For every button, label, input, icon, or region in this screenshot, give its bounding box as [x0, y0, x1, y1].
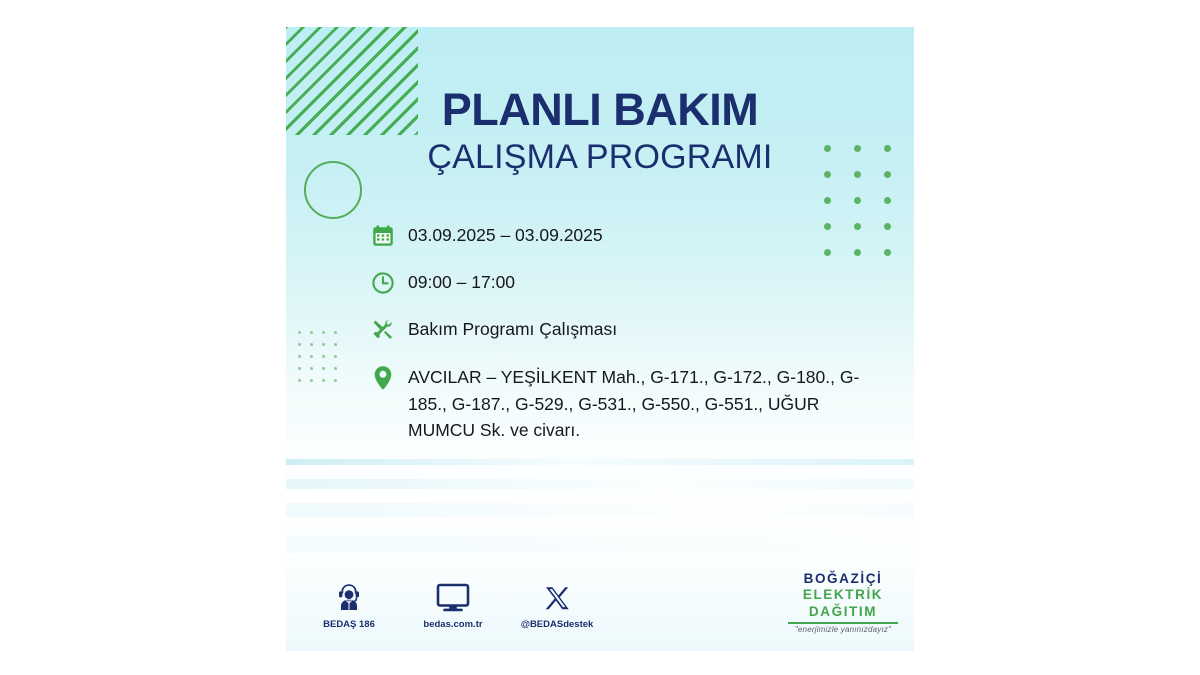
brand-line-elektrik: ELEKTRİK: [784, 587, 902, 603]
clock-icon: [368, 271, 398, 299]
page-title: PLANLI BAKIM: [286, 87, 914, 134]
dot: [884, 197, 891, 204]
dot: [824, 197, 831, 204]
brand-line-bogazici: BOĞAZİÇİ: [784, 571, 902, 587]
dot: [298, 367, 301, 370]
background-wave-band: [286, 479, 914, 489]
poster-heading: PLANLI BAKIM ÇALIŞMA PROGRAMI: [286, 87, 914, 177]
detail-location-text: AVCILAR – YEŞİLKENT Mah., G-171., G-172.…: [398, 364, 888, 444]
dot: [322, 331, 325, 334]
page-subtitle: ÇALIŞMA PROGRAMI: [286, 138, 914, 177]
contact-phone[interactable]: BEDAŞ 186: [312, 579, 386, 630]
location-pin-icon: [368, 365, 398, 393]
brand-divider: [788, 622, 898, 624]
detail-row-date: 03.09.2025 – 03.09.2025: [368, 223, 888, 252]
detail-row-time: 09:00 – 17:00: [368, 270, 888, 299]
dot: [334, 331, 337, 334]
dot: [854, 197, 861, 204]
dot: [322, 379, 325, 382]
calendar-icon: [368, 224, 398, 252]
footer-contacts: BEDAŞ 186 bedas.com.tr: [312, 579, 594, 630]
outage-details-list: 03.09.2025 – 03.09.2025 09:00 – 17:00: [368, 223, 888, 444]
background-wave-band: [286, 459, 914, 465]
monitor-icon: [416, 579, 490, 613]
dot: [298, 331, 301, 334]
contact-website[interactable]: bedas.com.tr: [416, 579, 490, 630]
brand-logo: BOĞAZİÇİ ELEKTRİK DAĞITIM "enerjimizle y…: [784, 571, 902, 634]
poster-canvas: PLANLI BAKIM ÇALIŞMA PROGRAMI: [0, 0, 1200, 675]
dot: [322, 367, 325, 370]
dot: [298, 379, 301, 382]
detail-work-type-text: Bakım Programı Çalışması: [398, 317, 617, 342]
dot: [310, 379, 313, 382]
dot: [334, 379, 337, 382]
dot: [298, 343, 301, 346]
dot: [322, 355, 325, 358]
contact-website-label: bedas.com.tr: [416, 619, 490, 630]
announcement-card: PLANLI BAKIM ÇALIŞMA PROGRAMI: [286, 27, 914, 651]
detail-time-text: 09:00 – 17:00: [398, 270, 515, 295]
dot-grid-left-decoration: [298, 331, 346, 391]
dot: [310, 343, 313, 346]
brand-tagline: "enerjimizle yanınızdayız": [784, 625, 902, 634]
dot: [322, 343, 325, 346]
background-wave-band: [286, 503, 914, 517]
dot: [298, 355, 301, 358]
support-agent-icon: [312, 579, 386, 613]
dot: [310, 367, 313, 370]
detail-row-work-type: Bakım Programı Çalışması: [368, 317, 888, 346]
contact-x[interactable]: @BEDASdestek: [520, 579, 594, 630]
dot: [334, 355, 337, 358]
dot: [310, 355, 313, 358]
background-wave-band: [286, 535, 914, 553]
detail-row-location: AVCILAR – YEŞİLKENT Mah., G-171., G-172.…: [368, 364, 888, 444]
detail-date-text: 03.09.2025 – 03.09.2025: [398, 223, 603, 248]
dot: [310, 331, 313, 334]
x-twitter-icon: [520, 579, 594, 613]
contact-x-label: @BEDASdestek: [520, 619, 594, 630]
contact-phone-label: BEDAŞ 186: [312, 619, 386, 630]
dot: [334, 367, 337, 370]
dot: [334, 343, 337, 346]
tools-icon: [368, 318, 398, 346]
brand-line-dagitim: DAĞITIM: [784, 604, 902, 620]
